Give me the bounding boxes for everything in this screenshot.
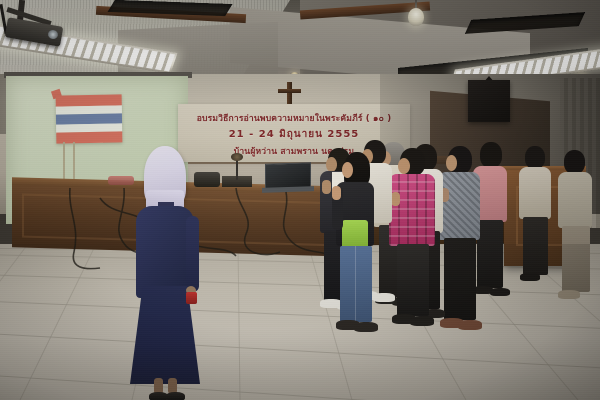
- thai-flag-drawing: [56, 94, 123, 143]
- banner-line-2-date: 21 - 24 มิถุนายน 2555: [229, 127, 360, 142]
- photograph-scene: อบรมวิธีการอ่านพบความหมายในพระคัมภีร์ ( …: [0, 0, 600, 400]
- cross-icon-crossbar: [278, 89, 301, 93]
- head: [564, 150, 585, 174]
- microphone-stand: [236, 158, 238, 180]
- head: [525, 146, 545, 169]
- torso: [519, 167, 551, 219]
- face: [398, 158, 410, 174]
- banner-line-1: อบรมวิธีการอ่านพบความหมายในพระคัมภีร์ ( …: [197, 111, 392, 125]
- light-bulb-icon: [408, 8, 424, 26]
- microphone-icon: [231, 153, 243, 161]
- floor-vignette: [0, 244, 600, 400]
- praying-hands: [322, 180, 331, 194]
- face: [342, 162, 353, 178]
- torso: [558, 172, 592, 228]
- praying-hands: [332, 186, 341, 200]
